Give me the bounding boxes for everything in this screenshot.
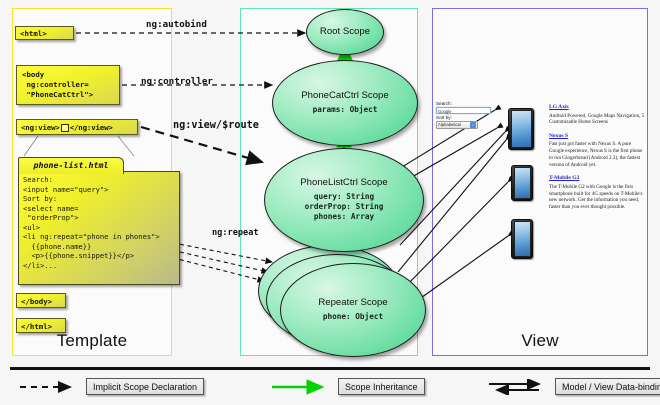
label-ng-view-route: ng:view/$route [173, 120, 259, 131]
phone-link-lg-axis[interactable]: LG Axis [549, 104, 645, 110]
phone-link-nexus-s[interactable]: Nexus S [549, 133, 645, 139]
list-item: T-Mobile G2 The T-Mobile G2 with Google … [549, 175, 645, 210]
list-item: Nexus S Fast just got faster with Nexus … [549, 133, 645, 168]
green-arrow-icon [270, 379, 332, 395]
scope-repeater: Repeater Scope phone: Object [280, 263, 426, 357]
tag-html-open: <html> [15, 26, 74, 40]
phone-thumbnail-nexus-s [511, 165, 533, 201]
note-code: Search: <input name="query"> Sort by: <s… [23, 175, 175, 270]
scope-phonelistctrl-title: PhoneListCtrl Scope [300, 178, 387, 189]
phone-list-note: phone-list.html Search: <input name="que… [18, 157, 180, 285]
phone-link-t-mobile-g2[interactable]: T-Mobile G2 [549, 175, 645, 181]
column-view-label: View [433, 331, 647, 351]
diagram-canvas: Template Model View [0, 0, 660, 405]
scope-root: Root Scope [306, 9, 384, 55]
legend-label-scope-inheritance: Scope Inheritance [338, 378, 425, 395]
scope-phonelistctrl-props: query: String orderProp: String phones: … [305, 192, 384, 222]
tag-ng-view: <ng:view></ng:view> [16, 119, 138, 135]
scope-root-title: Root Scope [320, 27, 370, 38]
scope-phonecatctrl-props: params: Object [313, 105, 378, 115]
legend-label-data-binding: Model / View Data-binding [555, 378, 660, 395]
note-sheet: Search: <input name="query"> Sort by: <s… [18, 171, 180, 285]
view-search-form: Search: Google Sort by: Alphabetical ↕ [436, 101, 496, 141]
note-title: phone-list.html [19, 158, 123, 173]
dashed-arrow-icon [18, 379, 80, 395]
phone-snippet-t-mobile-g2: The T-Mobile G2 with Google is the first… [549, 184, 645, 211]
scope-phonelistctrl: PhoneListCtrl Scope query: String orderP… [264, 148, 424, 252]
placeholder-square-icon [61, 124, 69, 132]
search-input[interactable]: Google [436, 107, 491, 114]
legend-label-implicit-scope: Implicit Scope Declaration [86, 378, 204, 395]
phone-snippet-nexus-s: Fast just got faster with Nexus S. A pur… [549, 141, 645, 168]
phone-screen [511, 110, 532, 148]
chevron-updown-icon: ↕ [470, 122, 476, 128]
phone-snippet-lg-axis: Android Powered, Google Maps Navigation,… [549, 113, 645, 126]
tag-ng-view-after: </ng:view> [70, 123, 113, 132]
sort-select-value: Alphabetical [438, 121, 461, 129]
note-tab: phone-list.html [18, 157, 124, 174]
list-item: LG Axis Android Powered, Google Maps Nav… [549, 104, 645, 126]
legend-item-data-binding: Model / View Data-binding [487, 378, 660, 395]
label-ng-repeat: ng:repeat [212, 228, 259, 238]
legend-item-implicit-scope: Implicit Scope Declaration [18, 378, 204, 395]
tag-body-close: </body> [16, 293, 66, 308]
phone-list: LG Axis Android Powered, Google Maps Nav… [549, 104, 645, 218]
phone-screen [514, 221, 531, 257]
label-ng-autobind: ng:autobind [146, 19, 207, 30]
double-arrow-icon [487, 379, 549, 395]
scope-repeater-title: Repeater Scope [318, 298, 387, 309]
search-label: Search: [436, 101, 496, 107]
legend: Implicit Scope Declaration Scope Inherit… [0, 366, 660, 405]
legend-item-scope-inheritance: Scope Inheritance [270, 378, 425, 395]
tag-ng-view-before: <ng:view> [21, 123, 60, 132]
legend-divider [10, 367, 650, 370]
sort-label: Sort by: [436, 115, 496, 121]
phone-screen [514, 167, 531, 199]
tag-body-open: <body ng:controller= "PhoneCatCtrl"> [16, 65, 120, 105]
column-template-label: Template [13, 331, 171, 351]
sort-select[interactable]: Alphabetical ↕ [436, 121, 478, 129]
scope-phonecatctrl-title: PhoneCatCtrl Scope [301, 91, 388, 102]
scope-repeater-props: phone: Object [323, 312, 383, 322]
phone-thumbnail-lg-axis [508, 108, 534, 150]
phone-thumbnail-t-mobile-g2 [511, 219, 533, 259]
tag-html-close: </html> [16, 318, 66, 333]
scope-repeater-stack: Repeater Scope phone: Object [258, 245, 426, 357]
label-ng-controller: ng:controller [141, 76, 213, 87]
scope-phonecatctrl: PhoneCatCtrl Scope params: Object [272, 60, 418, 146]
